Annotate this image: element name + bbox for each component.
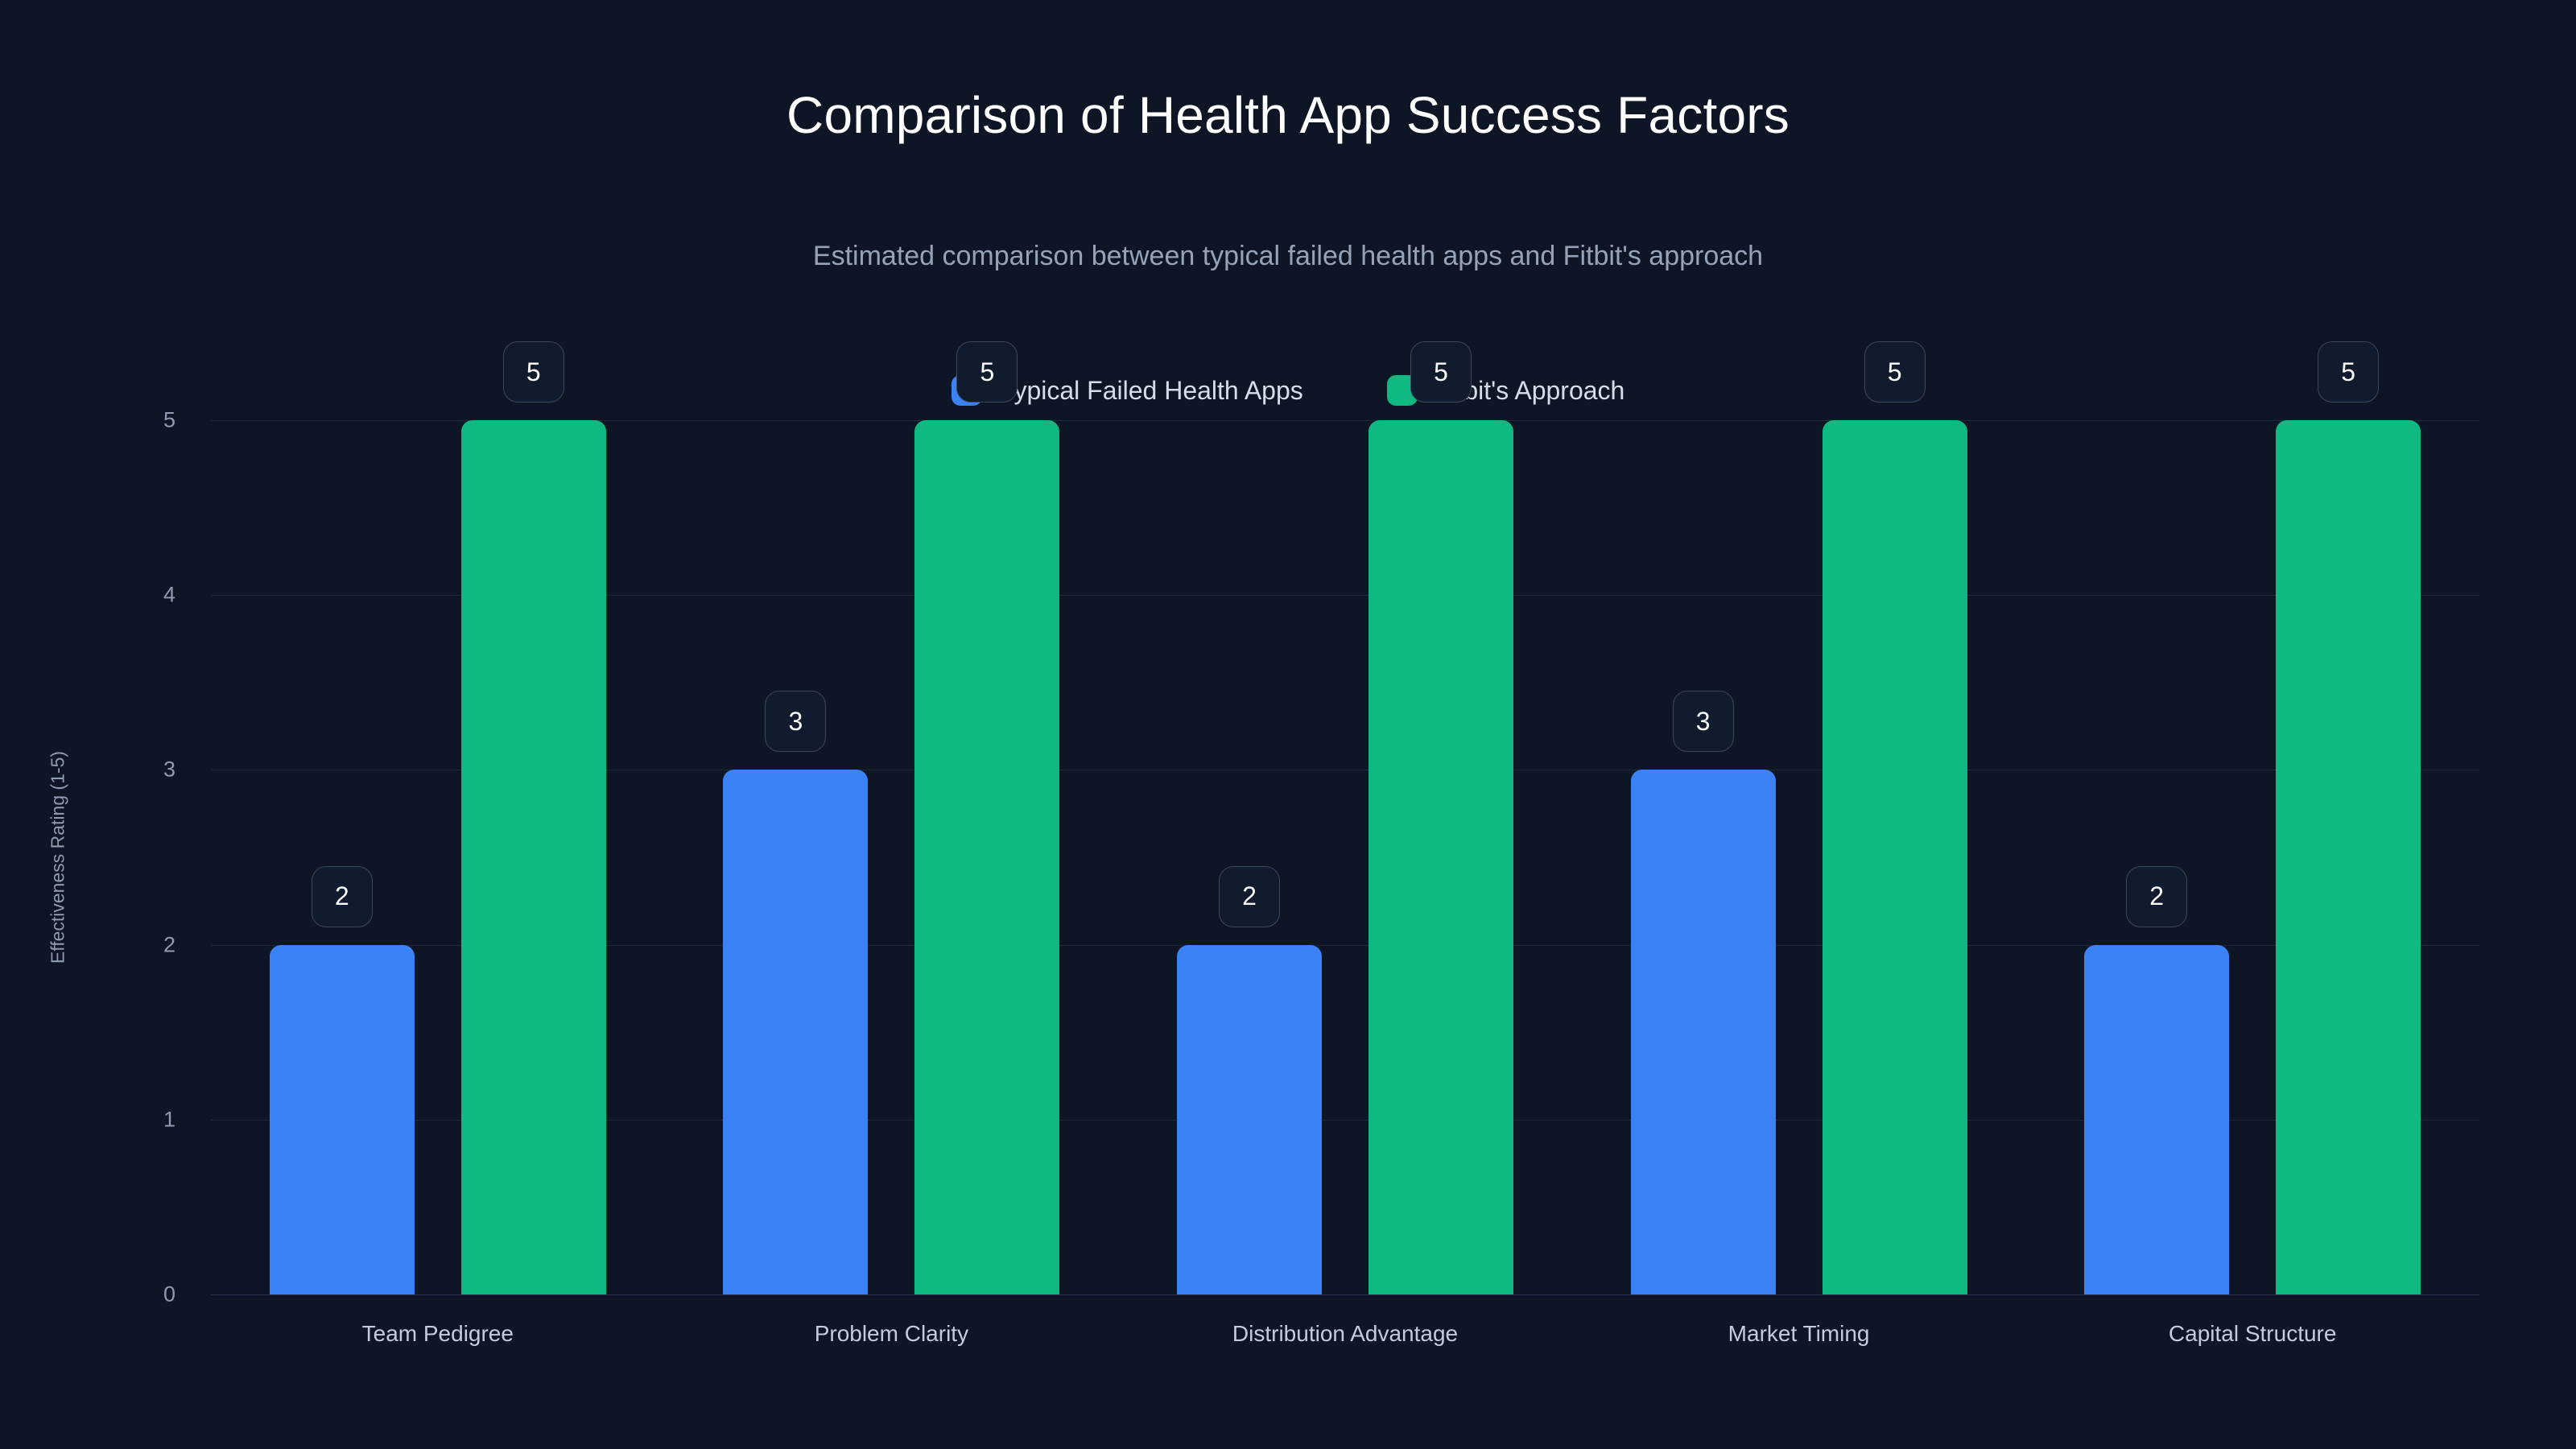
bar-value-label: 5 — [2318, 341, 2379, 402]
bar-value-label: 2 — [1219, 866, 1280, 927]
bar-value-label: 3 — [1673, 691, 1734, 752]
bar-value-label: 5 — [1864, 341, 1926, 402]
chart-canvas: Comparison of Health App Success Factors… — [0, 0, 2576, 1449]
bar-value-label: 5 — [1410, 341, 1472, 402]
bar-value-label: 5 — [956, 341, 1018, 402]
legend-label: Typical Failed Health Apps — [1000, 376, 1303, 406]
bar-value-label: 5 — [503, 341, 564, 402]
bar-value-label: 2 — [2126, 866, 2187, 927]
data-labels-container: 2535253525 — [0, 0, 2576, 1449]
chart-legend: Typical Failed Health AppsFitbit's Appro… — [0, 375, 2576, 406]
bar-value-label: 2 — [312, 866, 373, 927]
bar-value-label: 3 — [765, 691, 826, 752]
